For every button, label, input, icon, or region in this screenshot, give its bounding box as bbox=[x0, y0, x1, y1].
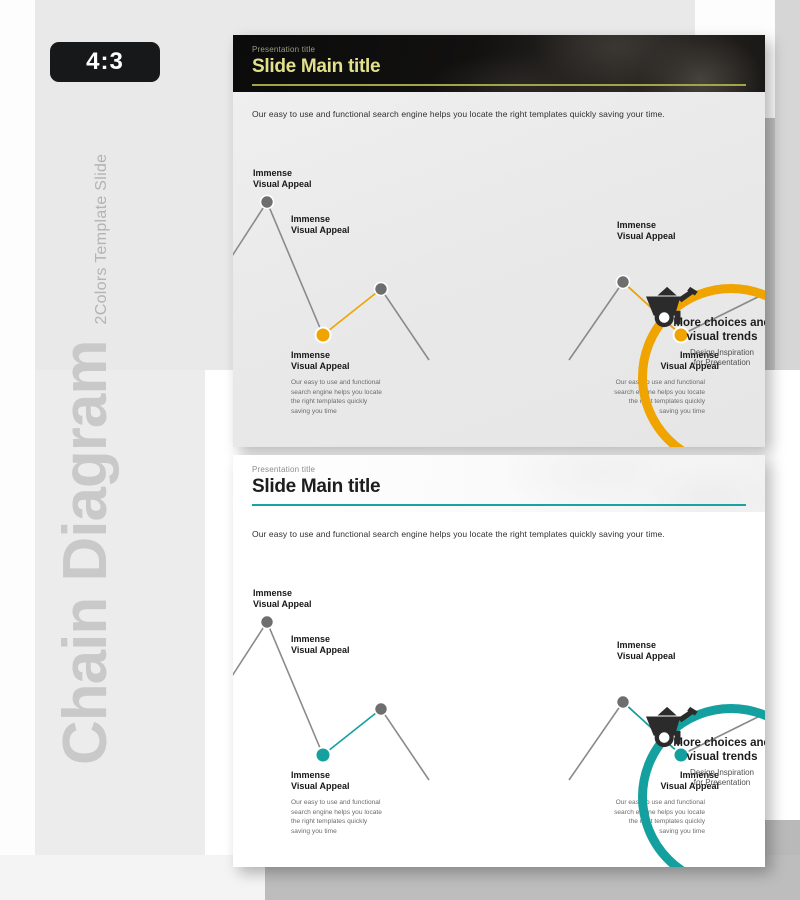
node-label-1: Immense Visual Appeal bbox=[253, 588, 312, 611]
node-body-2: Our easy to use and functional search en… bbox=[291, 378, 383, 416]
slide-title-rule bbox=[252, 84, 746, 86]
page-subtitle: 2Colors Template Slide bbox=[93, 154, 111, 325]
slide-body: Our easy to use and functional search en… bbox=[233, 92, 765, 447]
wheelbarrow-icon bbox=[638, 284, 700, 330]
chain-node-gray bbox=[375, 703, 388, 716]
node-label-4: Immense Visual Appeal bbox=[617, 640, 676, 663]
slide-preview-2[interactable]: Presentation title Slide Main title Our … bbox=[233, 455, 765, 867]
background-bottom-left-strip bbox=[0, 855, 265, 900]
node-body-2: Our easy to use and functional search en… bbox=[291, 798, 383, 836]
center-content: More choices and visual trends Design In… bbox=[638, 284, 765, 447]
chain-diagram: Immense Visual Appeal Immense Visual App… bbox=[233, 512, 765, 867]
chain-node-gray bbox=[375, 283, 388, 296]
node-label-3: Immense Visual Appeal bbox=[291, 214, 350, 237]
wheelbarrow-icon bbox=[638, 704, 700, 750]
chain-diagram: Immense Visual Appeal Immense Visual App… bbox=[233, 92, 765, 447]
slide-title: Slide Main title bbox=[252, 56, 380, 78]
chain-node-gray bbox=[617, 276, 630, 289]
aspect-ratio-label: 4:3 bbox=[86, 48, 124, 76]
center-content: More choices and visual trends Design In… bbox=[638, 704, 765, 867]
page-title: Chain Diagram bbox=[55, 340, 117, 765]
slide-title: Slide Main title bbox=[252, 476, 380, 498]
slide-header-dark: Presentation title Slide Main title bbox=[233, 35, 765, 92]
center-subtitle: Design Inspiration for Presentation bbox=[690, 348, 754, 369]
node-label-1: Immense Visual Appeal bbox=[253, 168, 312, 191]
chain-node-accent bbox=[316, 748, 331, 763]
slide-preview-1[interactable]: Presentation title Slide Main title Our … bbox=[233, 35, 765, 447]
chain-node-gray bbox=[261, 616, 274, 629]
slide-eyebrow: Presentation title bbox=[252, 465, 315, 474]
slide-header-light: Presentation title Slide Main title bbox=[233, 455, 765, 512]
slide-body: Our easy to use and functional search en… bbox=[233, 512, 765, 867]
center-subtitle: Design Inspiration for Presentation bbox=[690, 768, 754, 789]
aspect-ratio-badge: 4:3 bbox=[50, 42, 160, 82]
chain-node-gray bbox=[617, 696, 630, 709]
background-left-white-strip bbox=[0, 0, 35, 900]
slide-eyebrow: Presentation title bbox=[252, 45, 315, 54]
chain-node-gray bbox=[261, 196, 274, 209]
node-label-4: Immense Visual Appeal bbox=[617, 220, 676, 243]
side-title-group: Chain Diagram 2Colors Template Slide bbox=[55, 325, 155, 765]
chain-node-accent bbox=[316, 328, 331, 343]
node-label-3: Immense Visual Appeal bbox=[291, 634, 350, 657]
node-label-2: Immense Visual Appeal bbox=[291, 350, 350, 373]
node-label-2: Immense Visual Appeal bbox=[291, 770, 350, 793]
slide-title-rule bbox=[252, 504, 746, 506]
